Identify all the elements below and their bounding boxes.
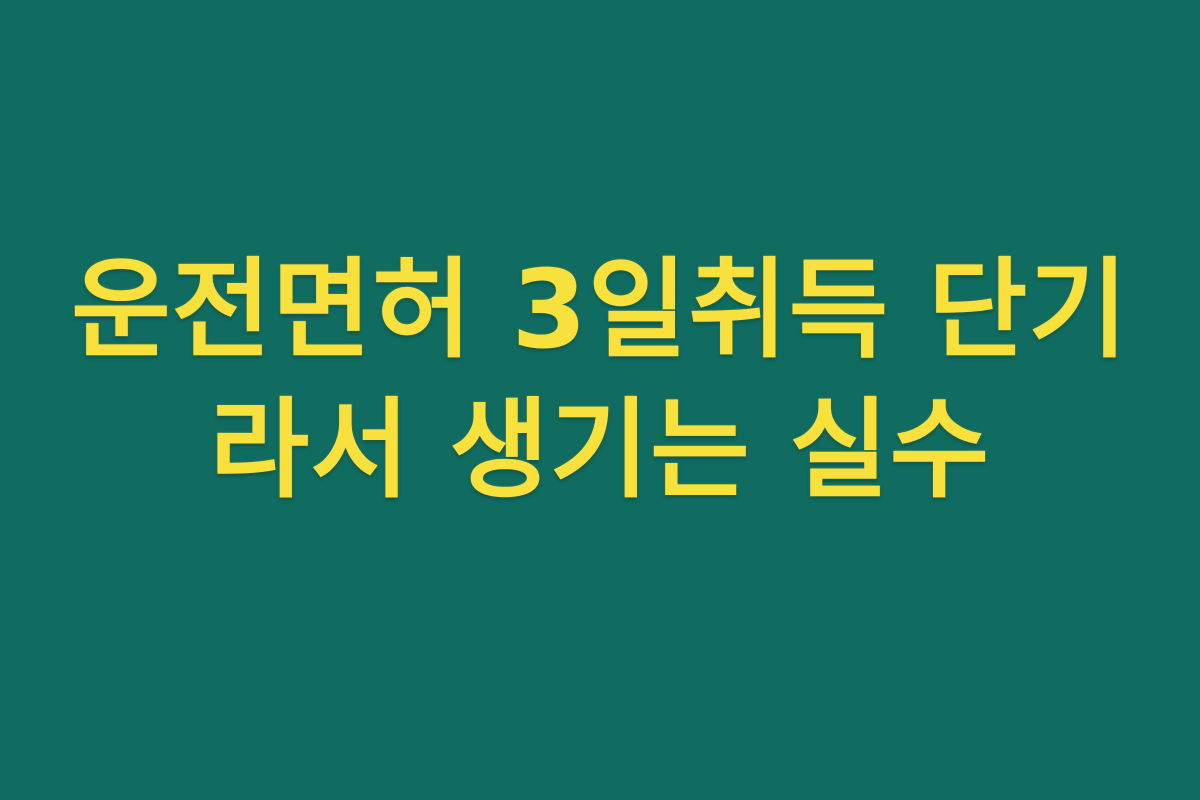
headline-line-1: 운전면허 3일취득 단기 xyxy=(71,242,1129,380)
headline-block: 운전면허 3일취득 단기 라서 생기는 실수 xyxy=(0,242,1200,520)
headline-line-2: 라서 생기는 실수 xyxy=(210,382,990,520)
text-card: 운전면허 3일취득 단기 라서 생기는 실수 xyxy=(0,0,1200,800)
